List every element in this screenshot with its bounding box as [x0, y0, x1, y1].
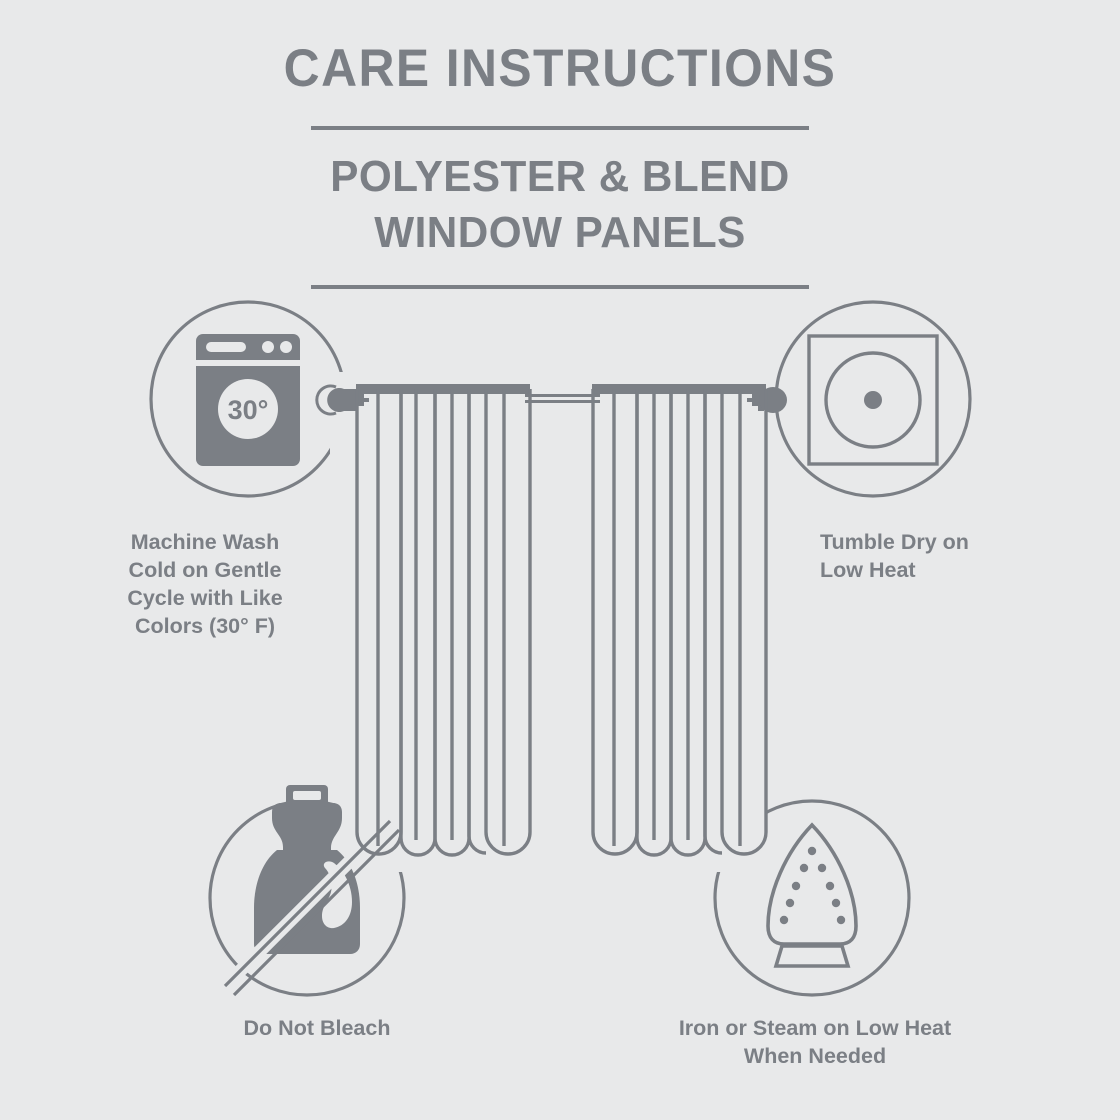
page-subtitle: POLYESTER & BLEND WINDOW PANELS: [22, 130, 1097, 261]
caption-line: Cold on Gentle: [129, 558, 282, 582]
no-bleach-icon: [210, 785, 404, 995]
curtain-panel-left: [356, 384, 530, 855]
caption-line: Do Not Bleach: [244, 1016, 391, 1040]
caption-tumble-dry: Tumble Dry on Low Heat: [820, 528, 1070, 584]
caption-line: Cycle with Like: [127, 586, 282, 610]
subtitle-line-2: WINDOW PANELS: [374, 208, 746, 257]
title-divider-bottom: [311, 285, 809, 289]
do-not-bleach-symbol: [210, 785, 404, 995]
caption-machine-wash: Machine Wash Cold on Gentle Cycle with L…: [80, 528, 330, 640]
header-block: CARE INSTRUCTIONS POLYESTER & BLEND WIND…: [0, 0, 1120, 289]
caption-line: Iron or Steam on Low Heat: [679, 1016, 951, 1040]
caption-line: Tumble Dry on: [820, 530, 969, 554]
caption-line: Colors (30° F): [135, 614, 275, 638]
care-instructions-infographic: 30°: [0, 0, 1120, 1120]
curtain-rod: [525, 394, 600, 403]
tumble-dry-symbol: [776, 302, 970, 496]
iron-symbol: [715, 801, 909, 995]
subtitle-line-1: POLYESTER & BLEND: [330, 152, 790, 201]
tumble-dry-low-icon: [809, 336, 937, 464]
caption-iron: Iron or Steam on Low Heat When Needed: [610, 1014, 1020, 1070]
caption-line: Low Heat: [820, 558, 916, 582]
caption-line: Machine Wash: [131, 530, 280, 554]
curtain-panel-right: [592, 384, 766, 855]
caption-do-not-bleach: Do Not Bleach: [182, 1014, 452, 1042]
caption-line: When Needed: [744, 1044, 886, 1068]
curtain-illustration: [317, 384, 787, 855]
page-title: CARE INSTRUCTIONS: [34, 0, 1087, 99]
iron-icon: [768, 825, 856, 966]
washing-machine-icon: 30°: [196, 334, 300, 466]
wash-temperature-label: 30°: [228, 395, 269, 425]
